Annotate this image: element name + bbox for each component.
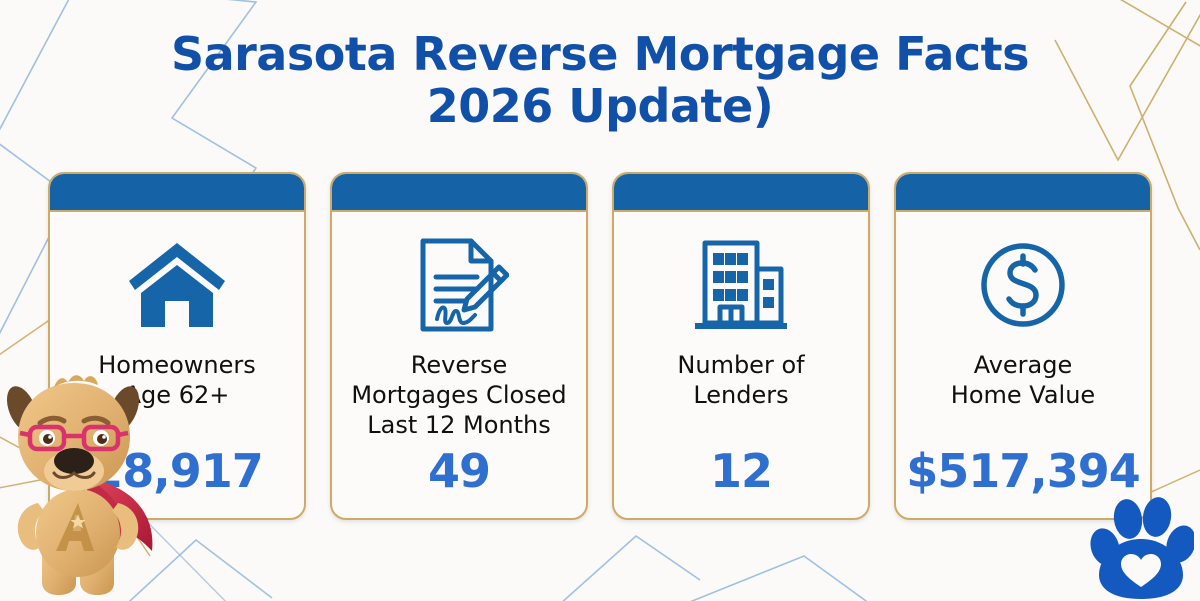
label-line-1: Number of bbox=[677, 351, 804, 379]
card-label-mortgages-closed: Reverse Mortgages Closed Last 12 Months bbox=[332, 350, 586, 446]
office-building-icon bbox=[687, 212, 795, 350]
page-title: Sarasota Reverse Mortgage Facts 2026 Upd… bbox=[0, 28, 1200, 132]
card-header-bar bbox=[50, 174, 304, 212]
card-label-home-value: Average Home Value bbox=[896, 350, 1150, 446]
title-line-2: 2026 Update) bbox=[0, 80, 1200, 132]
stat-card-mortgages-closed[interactable]: Reverse Mortgages Closed Last 12 Months … bbox=[330, 172, 588, 520]
label-line-3: Last 12 Months bbox=[367, 411, 551, 439]
card-value-mortgages-closed: 49 bbox=[332, 446, 586, 518]
card-header-bar bbox=[332, 174, 586, 212]
document-signature-icon bbox=[409, 212, 509, 350]
house-icon bbox=[123, 212, 231, 350]
label-line-2: Home Value bbox=[951, 381, 1095, 409]
card-label-lenders: Number of Lenders bbox=[614, 350, 868, 446]
title-line-1: Sarasota Reverse Mortgage Facts bbox=[0, 28, 1200, 80]
card-header-bar bbox=[614, 174, 868, 212]
label-line-1: Average bbox=[974, 351, 1073, 379]
superhero-dog-mascot bbox=[0, 375, 160, 601]
card-header-bar bbox=[896, 174, 1150, 212]
label-line-1: Reverse bbox=[411, 351, 507, 379]
stat-card-lenders[interactable]: Number of Lenders 12 bbox=[612, 172, 870, 520]
dollar-coin-icon bbox=[972, 212, 1074, 350]
infographic-canvas: Sarasota Reverse Mortgage Facts 2026 Upd… bbox=[0, 0, 1200, 601]
stat-cards-row: Homeowners Age 62+ 28,917 bbox=[48, 172, 1152, 520]
paw-print-heart-logo bbox=[1088, 495, 1194, 599]
stat-card-home-value[interactable]: Average Home Value $517,394 bbox=[894, 172, 1152, 520]
label-line-2: Mortgages Closed bbox=[351, 381, 566, 409]
card-value-lenders: 12 bbox=[614, 446, 868, 518]
label-line-2: Lenders bbox=[693, 381, 788, 409]
